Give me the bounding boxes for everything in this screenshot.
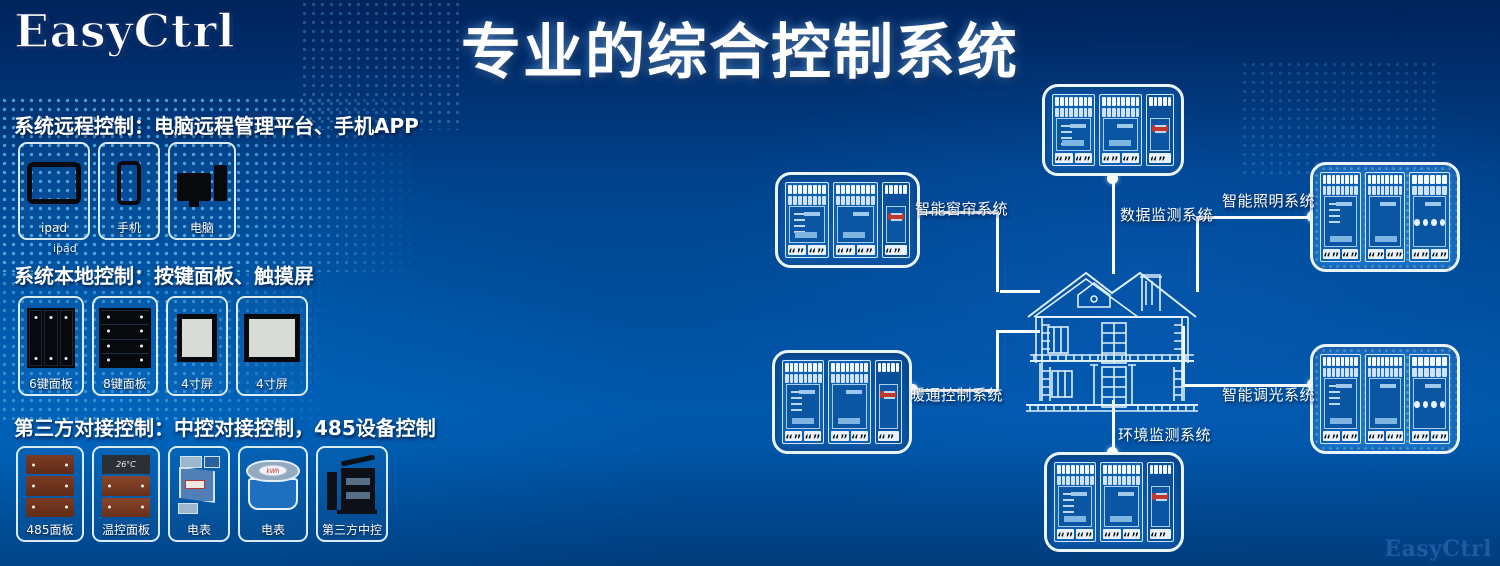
card-computer[interactable]: 电脑 (168, 142, 236, 240)
four-inch-screen-wide-icon (238, 298, 306, 378)
din-module (1320, 354, 1361, 444)
din-module (1099, 94, 1142, 166)
din-module (782, 360, 824, 444)
card-4inch-screen-a[interactable]: 4寸屏 (166, 296, 228, 396)
card-label: 第三方中控 (322, 524, 382, 537)
section-heading-third-party: 第三方对接控制：中控对接控制，485设备控制 (14, 412, 436, 441)
four-inch-screen-icon (168, 298, 226, 378)
din-module (875, 360, 902, 444)
din-module (1054, 462, 1096, 542)
module-dimming[interactable] (1310, 344, 1460, 454)
card-label: 电表 (187, 524, 211, 537)
din-module (882, 182, 910, 258)
poster-canvas: EasyCtrl 专业的综合控制系统 系统远程控制：电脑远程管理平台、手机APP… (0, 0, 1500, 566)
module-curtain[interactable] (775, 172, 920, 268)
card-electric-meter[interactable]: 电表 (168, 446, 230, 542)
card-label: 485面板 (27, 524, 74, 537)
card-label: 4寸屏 (256, 378, 288, 391)
card-label: 电表 (261, 524, 285, 537)
module-lighting[interactable] (1310, 162, 1460, 272)
watermark: EasyCtrl (1384, 536, 1492, 562)
din-module (1052, 94, 1095, 166)
card-round-electric-meter[interactable]: kWh 电表 (238, 446, 308, 542)
din-module (1365, 354, 1406, 444)
module-data-monitoring[interactable] (1042, 84, 1184, 176)
electric-meter-icon (170, 448, 228, 524)
card-8key-panel[interactable]: 8键面板 (92, 296, 158, 396)
din-module (785, 182, 829, 258)
card-label: 4寸屏 (181, 378, 213, 391)
diagram-label-data: 数据监测系统 (1120, 204, 1213, 225)
rs485-panel-icon (18, 448, 82, 524)
ipad-sublabel: ipad (53, 242, 77, 255)
connector-hvac-v (996, 330, 999, 392)
card-6key-panel[interactable]: 6键面板 (18, 296, 84, 396)
section-heading-remote: 系统远程控制：电脑远程管理平台、手机APP (14, 110, 419, 139)
connector-curtain-v (996, 212, 999, 292)
module-hvac[interactable] (772, 350, 912, 454)
card-third-party-controller[interactable]: 第三方中控 (316, 446, 388, 542)
diagram-label-environment: 环境监测系统 (1118, 424, 1211, 445)
din-module (1409, 354, 1450, 444)
connector-lighting-h (1196, 216, 1312, 219)
page-title: 专业的综合控制系统 (440, 22, 1040, 85)
card-label: 8键面板 (103, 378, 147, 391)
thermostat-display: 26°C (102, 455, 150, 474)
six-key-panel-icon (20, 298, 82, 378)
third-party-controller-icon (318, 448, 386, 524)
card-label: ipad (41, 222, 67, 235)
din-module (828, 360, 870, 444)
card-phone[interactable]: 手机 (98, 142, 160, 240)
din-module (1146, 94, 1174, 166)
din-module (1320, 172, 1361, 262)
din-module (1147, 462, 1174, 542)
din-module (1100, 462, 1142, 542)
smartphone-icon (100, 144, 158, 222)
diagram-label-dimming: 智能调光系统 (1222, 384, 1315, 405)
diagram-label-hvac: 暖通控制系统 (910, 384, 1003, 405)
section-heading-local: 系统本地控制：按键面板、触摸屏 (14, 260, 314, 289)
module-environment[interactable] (1044, 452, 1184, 552)
card-thermostat-panel[interactable]: 26°C 温控面板 (92, 446, 160, 542)
din-module (833, 182, 877, 258)
card-label: 电脑 (190, 222, 214, 235)
villa-house-icon (1022, 255, 1202, 415)
card-ipad[interactable]: ipad (18, 142, 90, 240)
tablet-icon (20, 144, 88, 222)
diagram-label-lighting: 智能照明系统 (1222, 190, 1315, 211)
brand-logo: EasyCtrl (14, 4, 235, 58)
card-label: 手机 (117, 222, 141, 235)
din-module (1365, 172, 1406, 262)
card-label: 温控面板 (102, 524, 150, 537)
meter-reading: kWh (260, 466, 286, 477)
thermostat-panel-icon: 26°C (94, 448, 158, 524)
card-485-panel[interactable]: 485面板 (16, 446, 84, 542)
eight-key-panel-icon (94, 298, 156, 378)
diagram-label-curtain: 智能窗帘系统 (915, 198, 1008, 219)
card-label: 6键面板 (29, 378, 73, 391)
din-module (1409, 172, 1450, 262)
card-4inch-screen-b[interactable]: 4寸屏 (236, 296, 308, 396)
desktop-computer-icon (170, 144, 234, 222)
round-electric-meter-icon: kWh (240, 448, 306, 524)
